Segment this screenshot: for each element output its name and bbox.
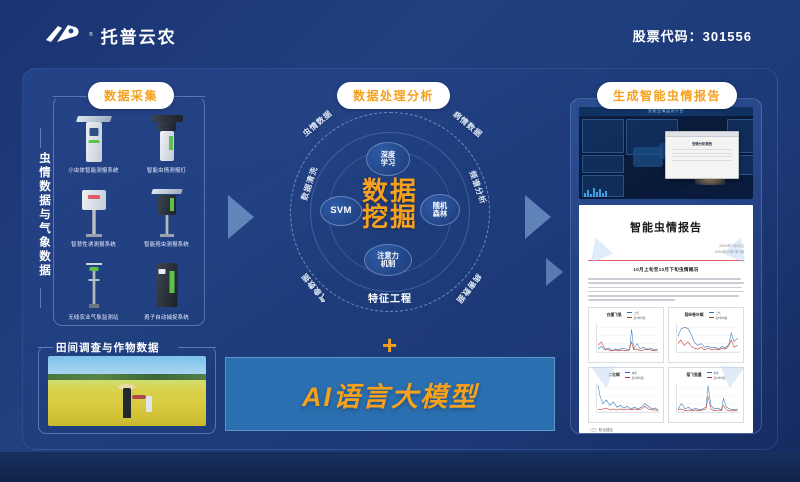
dashboard-report-popup[interactable]: 虫情分析报告 bbox=[665, 131, 739, 179]
legend-item: 本年 bbox=[632, 371, 637, 375]
popup-line bbox=[672, 149, 732, 150]
registered-mark: ® bbox=[89, 32, 93, 38]
pheromone-trap-icon bbox=[57, 186, 130, 238]
ring-arrow-2-icon bbox=[721, 237, 745, 266]
flow-arrow-right bbox=[525, 195, 551, 239]
flow-arrow-to-report bbox=[546, 258, 563, 286]
popup-titlebar bbox=[666, 132, 738, 137]
report-chart: 稻纵卷叶螟 二代 近5年均值 bbox=[668, 307, 744, 363]
node-random-forest[interactable]: 随机 森林 bbox=[420, 194, 460, 226]
device-label: 智能孢虫测报系统 bbox=[144, 240, 189, 248]
legend-item: 近5年均值 bbox=[716, 316, 728, 320]
legend-item: 二代 bbox=[634, 311, 639, 315]
field-survey-title: 田间调查与作物数据 bbox=[56, 340, 160, 355]
field-title-line-left bbox=[38, 347, 54, 348]
dashboard-bar-chart bbox=[584, 187, 607, 197]
device-label: 智慧性诱测报系统 bbox=[71, 240, 116, 248]
kiosk-device-icon bbox=[57, 112, 130, 164]
chart-plot bbox=[671, 322, 741, 358]
device-label: 无线农业气象监测站 bbox=[68, 313, 118, 321]
chart-legend: 二代 近5年均值 bbox=[709, 311, 728, 320]
report-footer: （三）防治建议 bbox=[588, 428, 744, 433]
spore-monitor-icon bbox=[130, 186, 203, 238]
farmer-arm bbox=[132, 395, 146, 399]
device-card[interactable]: 智能孢虫测报系统 bbox=[130, 176, 203, 249]
section-title-data-processing: 数据处理分析 bbox=[337, 82, 450, 109]
popup-title: 虫情分析报告 bbox=[666, 141, 738, 146]
spore-catcher-icon bbox=[130, 259, 203, 311]
popup-line bbox=[672, 153, 732, 154]
chart-legend: 二代 近5年均值 bbox=[627, 311, 646, 320]
device-card[interactable]: 智能虫情测报灯 bbox=[130, 103, 203, 176]
ai-model-label: AI语言大模型 bbox=[302, 375, 478, 414]
report-title: 智能虫情报告 bbox=[588, 219, 744, 235]
report-paragraph bbox=[588, 278, 744, 301]
vertical-label-line-top bbox=[40, 128, 41, 148]
farmer-body bbox=[123, 388, 131, 418]
device-label: 孢子自动捕捉系统 bbox=[144, 313, 189, 321]
legend-item: 近5年均值 bbox=[634, 316, 646, 320]
flow-arrow-left bbox=[228, 195, 254, 239]
pest-lamp-icon bbox=[130, 112, 203, 164]
device-grid: 小虫体智能测报系统 智能虫情测报灯 智慧性诱测报系统 智能孢虫测报系统 bbox=[57, 103, 203, 323]
node-random-forest-line2: 森林 bbox=[433, 210, 447, 218]
section-title-report-generation: 生成智能虫情报告 bbox=[597, 82, 737, 109]
dashboard-widget bbox=[582, 155, 624, 173]
section-title-data-collection: 数据采集 bbox=[88, 82, 174, 109]
device-card[interactable]: 智慧性诱测报系统 bbox=[57, 176, 130, 249]
handheld-device bbox=[146, 396, 152, 412]
device-label: 小虫体智能测报系统 bbox=[68, 166, 118, 174]
monitoring-dashboard-screenshot[interactable]: 智能虫情监测平台 虫情分析报告 bbox=[579, 107, 753, 199]
dashboard-widget bbox=[582, 119, 624, 153]
legend-item: 二代 bbox=[716, 311, 721, 315]
rice-field-survey-photo bbox=[48, 356, 206, 426]
node-svm[interactable]: SVM bbox=[320, 196, 362, 226]
stock-code: 股票代码：301556 bbox=[633, 26, 752, 45]
weather-station-icon bbox=[57, 259, 130, 311]
core-line-2: 挖掘 bbox=[272, 204, 508, 230]
plus-icon: + bbox=[382, 332, 397, 358]
report-chart: 白僵飞虱 二代 近5年均值 bbox=[588, 307, 664, 363]
bottom-strip bbox=[0, 452, 800, 482]
device-card[interactable]: 无线农业气象监测站 bbox=[57, 250, 130, 323]
report-subtitle: 10月上旬至10月下旬虫情概况 bbox=[588, 267, 744, 273]
field-title-line-right bbox=[178, 347, 216, 348]
chart-title: 白僵飞虱 bbox=[606, 313, 621, 318]
chart-title: 稻飞虱量 bbox=[686, 373, 701, 378]
chart-plot bbox=[591, 382, 661, 418]
node-attention-mechanism[interactable]: 注意力 机制 bbox=[364, 244, 412, 276]
vertical-label-line-bottom bbox=[40, 288, 41, 308]
tp-logo-icon bbox=[44, 22, 84, 48]
report-panel: 智能虫情监测平台 虫情分析报告 智能虫情报告 bbox=[570, 98, 762, 434]
device-label: 智能虫情测报灯 bbox=[147, 166, 186, 174]
ai-model-banner: AI语言大模型 bbox=[225, 357, 555, 431]
chart-plot bbox=[591, 322, 661, 358]
treeline bbox=[48, 374, 206, 380]
brand-name: 托普云农 bbox=[101, 23, 177, 48]
chart-title: 稻纵卷叶螟 bbox=[685, 313, 704, 318]
chart-legend: 本年 近5年均值 bbox=[625, 371, 644, 380]
device-card[interactable]: 小虫体智能测报系统 bbox=[57, 103, 130, 176]
legend-item: 近5年均值 bbox=[632, 376, 644, 380]
page-header: ® 托普云农 股票代码：301556 bbox=[0, 0, 800, 70]
device-card[interactable]: 孢子自动捕捉系统 bbox=[130, 250, 203, 323]
node-deep-learning-line2: 学习 bbox=[381, 159, 395, 167]
brand-logo: ® 托普云农 bbox=[44, 22, 177, 48]
popup-line bbox=[672, 160, 732, 161]
popup-line bbox=[672, 156, 732, 157]
node-attention-line2: 机制 bbox=[377, 260, 399, 268]
node-deep-learning[interactable]: 深度 学习 bbox=[366, 142, 410, 176]
vertical-label-pest-weather-data: 虫情数据与气象数据 bbox=[33, 152, 50, 278]
